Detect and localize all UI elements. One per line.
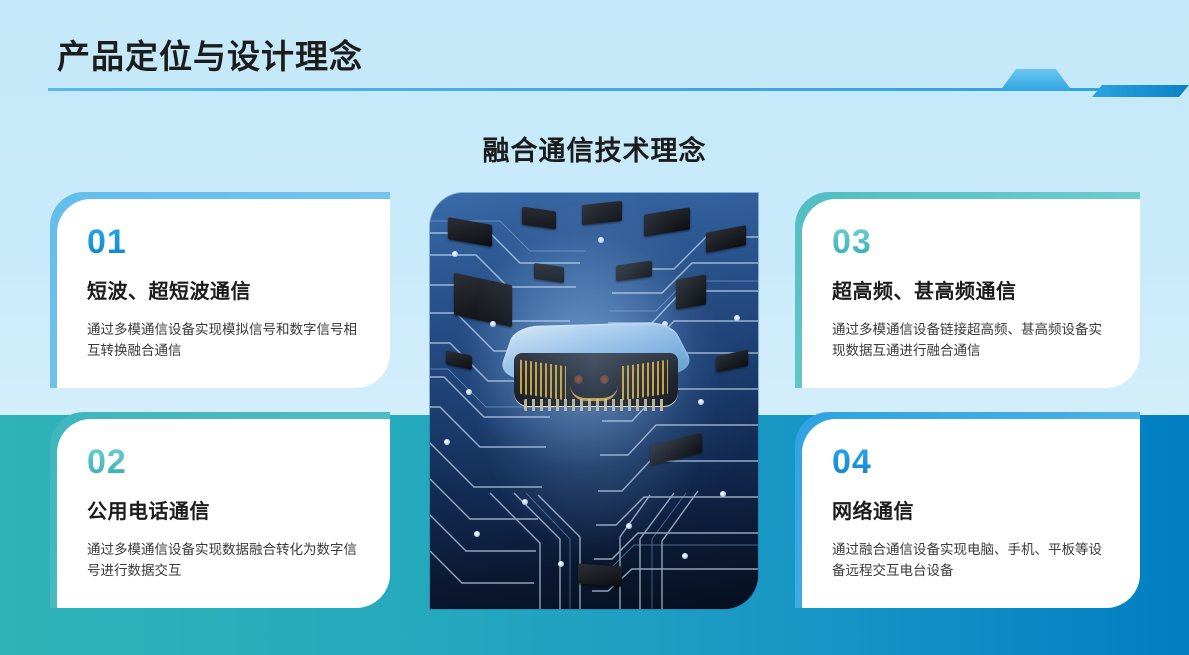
card-description-02: 通过多模通信设备实现数据融合转化为数字信号进行数据交互 bbox=[87, 540, 360, 582]
card-number-03: 03 bbox=[832, 225, 1110, 259]
header-slab-decoration-icon bbox=[1092, 85, 1189, 97]
card-description-03: 通过多模通信设备链接超高频、甚高频设备实现数据互通进行融合通信 bbox=[832, 320, 1110, 362]
page-title: 产品定位与设计理念 bbox=[57, 30, 363, 78]
card-description-01: 通过多模通信设备实现模拟信号和数字信号相互转换融合通信 bbox=[87, 320, 360, 362]
card-title-01: 短波、超短波通信 bbox=[87, 275, 360, 304]
slide-root: 产品定位与设计理念 融合通信技术理念 bbox=[0, 0, 1189, 655]
card-number-02: 02 bbox=[87, 445, 360, 479]
card-number-04: 04 bbox=[832, 445, 1110, 479]
feature-card-01[interactable]: 01 短波、超短波通信 通过多模通信设备实现模拟信号和数字信号相互转换融合通信 bbox=[57, 199, 390, 388]
pcb-glow-overlay bbox=[430, 193, 758, 609]
card-title-04: 网络通信 bbox=[832, 495, 1110, 524]
section-subtitle: 融合通信技术理念 bbox=[0, 129, 1189, 168]
card-number-01: 01 bbox=[87, 225, 360, 259]
feature-card-02[interactable]: 02 公用电话通信 通过多模通信设备实现数据融合转化为数字信号进行数据交互 bbox=[57, 419, 390, 608]
center-circuit-board-image bbox=[430, 193, 758, 609]
card-title-03: 超高频、甚高频通信 bbox=[832, 275, 1110, 304]
card-title-02: 公用电话通信 bbox=[87, 495, 360, 524]
feature-card-03[interactable]: 03 超高频、甚高频通信 通过多模通信设备链接超高频、甚高频设备实现数据互通进行… bbox=[802, 199, 1140, 388]
feature-card-04[interactable]: 04 网络通信 通过融合通信设备实现电脑、手机、平板等设备远程交互电台设备 bbox=[802, 419, 1140, 608]
header-divider bbox=[48, 88, 1145, 91]
card-description-04: 通过融合通信设备实现电脑、手机、平板等设备远程交互电台设备 bbox=[832, 540, 1110, 582]
